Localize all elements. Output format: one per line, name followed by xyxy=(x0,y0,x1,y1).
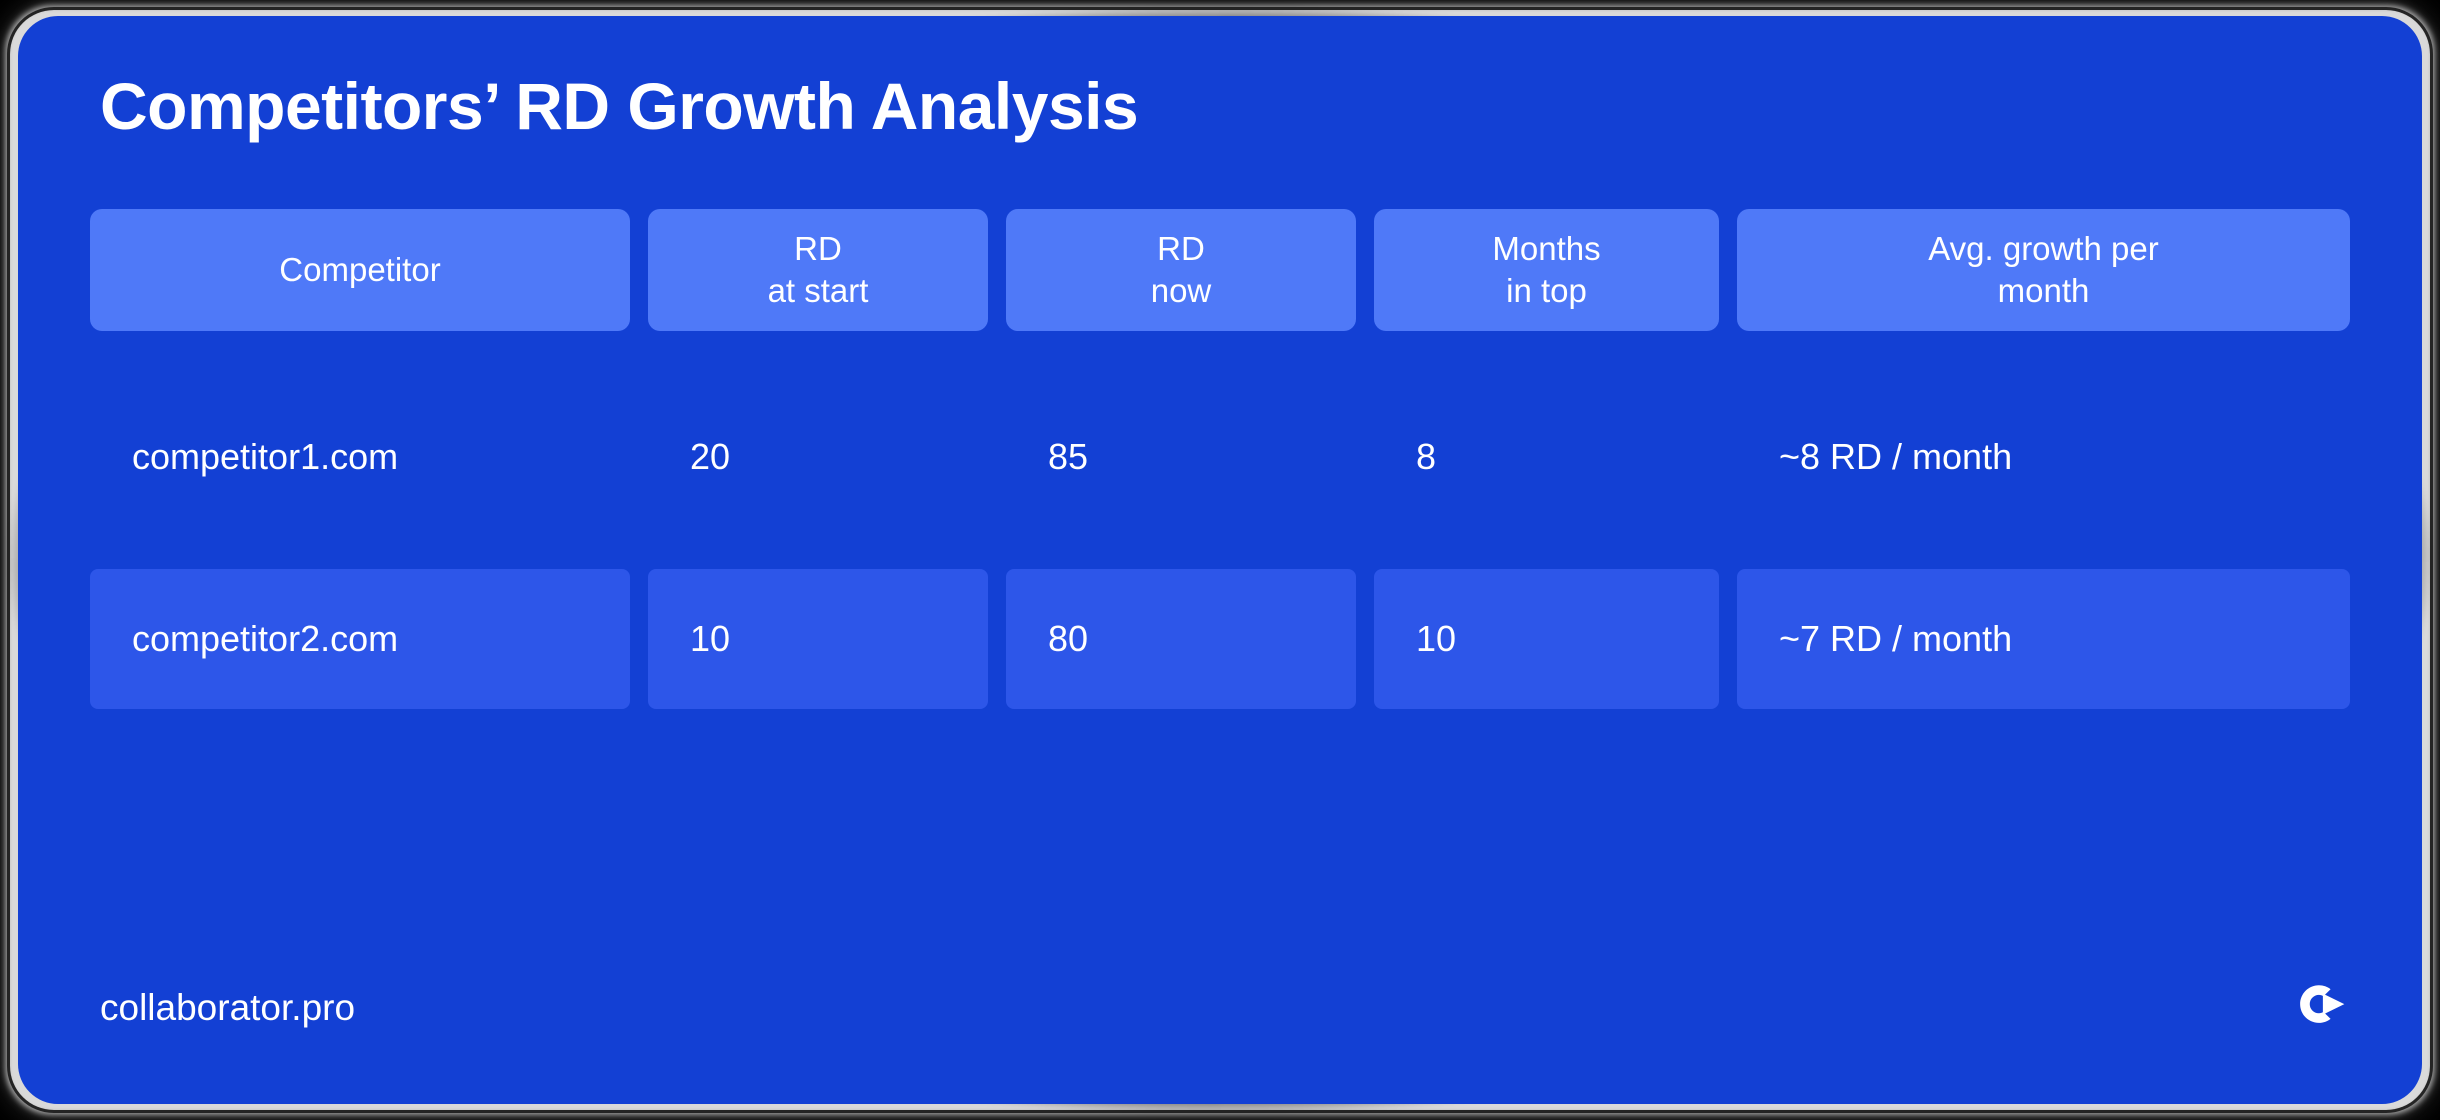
column-header-rd-now: RD now xyxy=(1006,209,1356,331)
cell-rd-at-start: 20 xyxy=(648,387,988,527)
info-card: Competitors’ RD Growth Analysis Competit… xyxy=(18,16,2422,1104)
column-header-competitor: Competitor xyxy=(90,209,630,331)
collaborator-logo-icon xyxy=(2294,980,2350,1036)
cell-competitor: competitor2.com xyxy=(90,569,630,709)
cell-rd-now: 85 xyxy=(1006,387,1356,527)
cell-months-in-top: 8 xyxy=(1374,387,1719,527)
table-row: competitor1.com 20 85 8 ~8 RD / month xyxy=(90,387,2350,527)
site-name: collaborator.pro xyxy=(90,987,355,1029)
row-gap xyxy=(90,527,2350,569)
cell-rd-now: 80 xyxy=(1006,569,1356,709)
cell-rd-at-start: 10 xyxy=(648,569,988,709)
page-title: Competitors’ RD Growth Analysis xyxy=(90,72,2350,141)
screenshot-stage: Competitors’ RD Growth Analysis Competit… xyxy=(0,0,2440,1120)
cell-competitor: competitor1.com xyxy=(90,387,630,527)
header-body-gap xyxy=(90,331,2350,387)
competitors-table: Competitor RD at start RD now Months in … xyxy=(90,209,2350,709)
card-content: Competitors’ RD Growth Analysis Competit… xyxy=(18,16,2422,1104)
cell-avg-growth-per-month: ~8 RD / month xyxy=(1737,387,2350,527)
column-header-avg-growth-per-month: Avg. growth per month xyxy=(1737,209,2350,331)
table-row: competitor2.com 10 80 10 ~7 RD / month xyxy=(90,569,2350,709)
cell-months-in-top: 10 xyxy=(1374,569,1719,709)
cell-avg-growth-per-month: ~7 RD / month xyxy=(1737,569,2350,709)
column-header-months-in-top: Months in top xyxy=(1374,209,1719,331)
card-footer: collaborator.pro xyxy=(90,980,2350,1036)
table-header-row: Competitor RD at start RD now Months in … xyxy=(90,209,2350,331)
column-header-rd-at-start: RD at start xyxy=(648,209,988,331)
